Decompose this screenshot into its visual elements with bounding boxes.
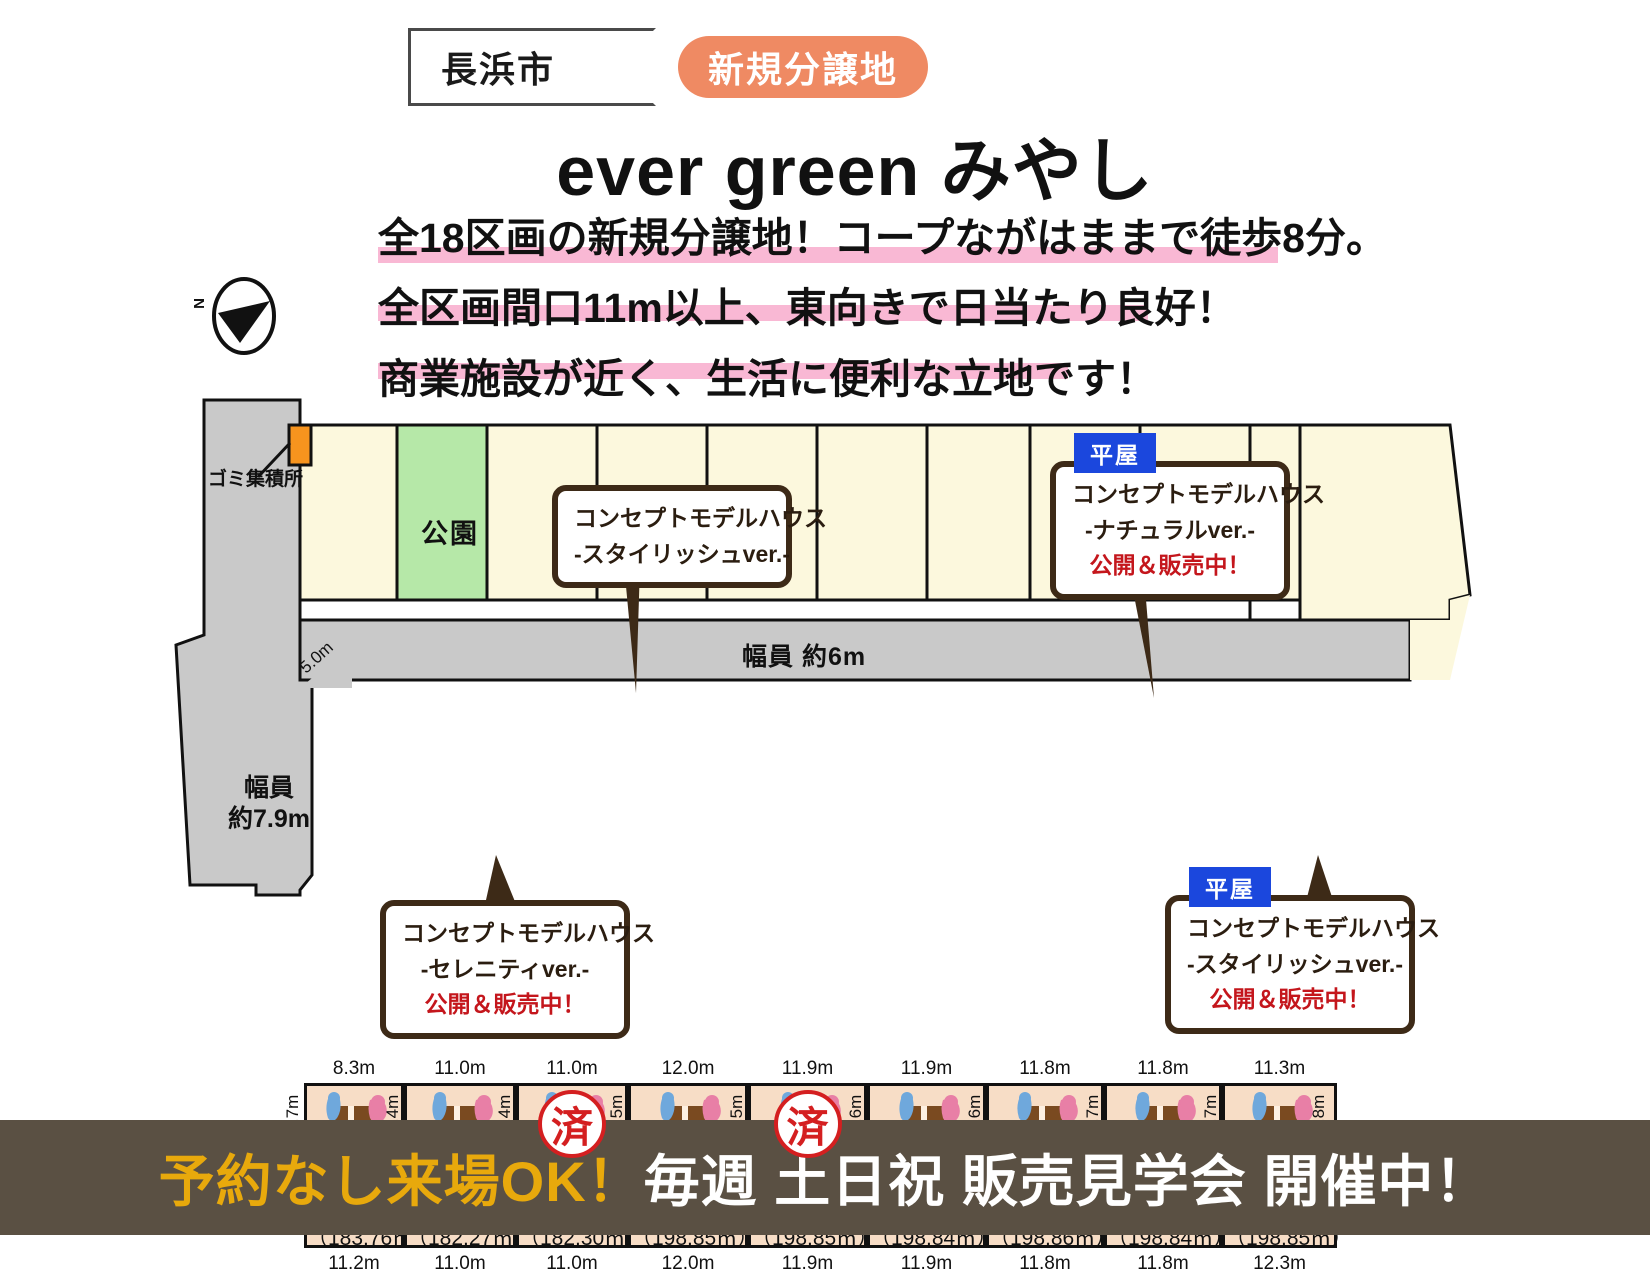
callout-line-1: コンセプトモデルハウス [574,501,770,537]
callout-stylish-bottom: 平屋 コンセプトモデルハウス -スタイリッシュver.- 公開＆販売中！ [1165,895,1415,1034]
lot-bottom-dimension: 11.8m [1107,1253,1219,1275]
description-line-2: 全区画間口11m以上、東向きで日当たり良好！ [378,282,1237,334]
lot-top-dimension: 11.0m [407,1058,513,1080]
north-road-width-label: 幅員 約6m [742,637,866,673]
lot-top-dimension: 11.9m [751,1058,864,1080]
garbage-station-label: ゴミ集積所 [208,464,303,491]
callout-line-2: -スタイリッシュver.- [1187,947,1393,983]
callout-line-2: -ナチュラルver.- [1072,513,1268,549]
callout-serenity: コンセプトモデルハウス -セレニティver.- 公開＆販売中！ [380,900,630,1039]
description-line-1: 全18区画の新規分譲地！コープながはままで徒歩8分。 [378,212,1387,264]
city-badge: 長浜市 [408,28,656,106]
callout-line-1: コンセプトモデルハウス [1072,477,1268,513]
lot-top-dimension: 11.0m [519,1058,625,1080]
hiraya-badge-stylish: 平屋 [1189,867,1271,907]
lot-top-dimension: 11.8m [1107,1058,1219,1080]
lot-bottom-dimension: 11.0m [519,1253,625,1275]
lot-bottom-dimension: 12.3m [1225,1253,1334,1275]
lot-bottom-dimension: 11.0m [407,1253,513,1275]
lot-bottom-dimension: 12.0m [631,1253,745,1275]
lot-bottom-dimension: 11.9m [870,1253,983,1275]
park-label: 公園 [421,512,479,551]
hiraya-badge-natural: 平屋 [1074,433,1156,473]
callout-natural: 平屋 コンセプトモデルハウス -ナチュラルver.- 公開＆販売中！ [1050,461,1290,600]
lot-top-dimension: 11.8m [989,1058,1101,1080]
subdivision-map: ゴミ集積所 公園 幅員 約6m 幅員 約7.9m 5.0m 8.3m12.7m1… [0,395,1650,1035]
lot-bottom-dimension: 11.8m [989,1253,1101,1275]
lot-bottom-dimension: 11.2m [307,1253,401,1275]
callout-line-3: 公開＆販売中！ [1072,548,1268,584]
callout-line-3: 公開＆販売中！ [402,987,608,1023]
callout-line-2: -セレニティver.- [402,952,608,988]
lot-top-dimension: 11.3m [1225,1058,1334,1080]
sold-stamp: 済 [774,1090,842,1158]
lot-bottom-dimension: 11.9m [751,1253,864,1275]
callout-line-1: コンセプトモデルハウス [402,916,608,952]
page-title: ever green みやし [0,115,1650,216]
sold-stamp: 済 [538,1090,606,1158]
callout-line-2: -スタイリッシュver.- [574,537,770,573]
callout-stylish-top: コンセプトモデルハウス -スタイリッシュver.- [552,485,792,588]
callout-line-3: 公開＆販売中！ [1187,982,1393,1018]
west-road-width-label: 幅員 約7.9m [228,773,310,836]
banner-white-text: 毎週 土日祝 販売見学会 開催中！ [644,1137,1492,1218]
compass-north-label: N [191,298,208,309]
lot-top-dimension: 11.9m [870,1058,983,1080]
header-badges: 長浜市 新規分譲地 [408,28,928,106]
description-block: 全18区画の新規分譲地！コープながはままで徒歩8分。 全区画間口11m以上、東向… [378,212,1387,423]
compass-rose: N [196,277,288,355]
lot-top-dimension: 12.0m [631,1058,745,1080]
lot-top-dimension: 8.3m [307,1058,401,1080]
new-lot-badge: 新規分譲地 [678,36,928,98]
callout-line-1: コンセプトモデルハウス [1187,911,1393,947]
